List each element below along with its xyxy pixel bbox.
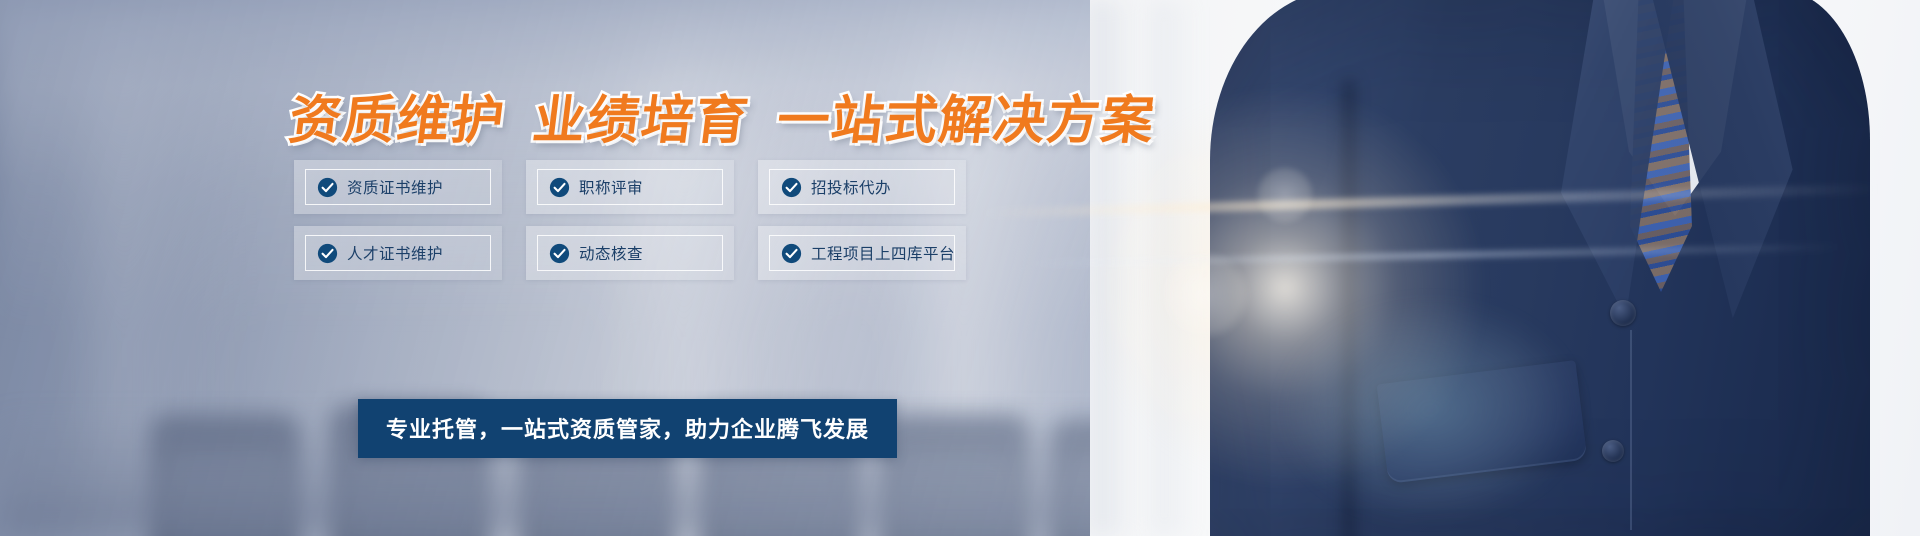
banner-content: 资质维护业绩培育一站式解决方案 资质证书维护: [0, 0, 1200, 536]
service-card-label: 人才证书维护: [347, 242, 443, 264]
headline-part-2: 业绩培育: [530, 91, 753, 151]
businessman-photo: [1090, 0, 1920, 536]
service-card-four-database-platform[interactable]: 工程项目上四库平台: [758, 226, 966, 280]
check-circle-icon: [317, 243, 338, 264]
service-card-row-2: 人才证书维护 动态核查: [294, 226, 966, 280]
headline-part-1: 资质维护: [286, 91, 509, 151]
service-card-label: 职称评审: [579, 176, 643, 198]
service-card-talent-cert[interactable]: 人才证书维护: [294, 226, 502, 280]
jacket-button-top: [1610, 300, 1636, 326]
service-card-row-1: 资质证书维护 职称评审: [294, 160, 966, 214]
service-card-title-review[interactable]: 职称评审: [526, 160, 734, 214]
hero-banner: 资质维护业绩培育一站式解决方案 资质证书维护: [0, 0, 1920, 536]
service-card-dynamic-inspection[interactable]: 动态核查: [526, 226, 734, 280]
service-card-label: 招投标代办: [811, 176, 891, 198]
service-card-bidding-agency[interactable]: 招投标代办: [758, 160, 966, 214]
page-title: 资质维护业绩培育一站式解决方案: [285, 78, 1160, 153]
service-card-grid: 资质证书维护 职称评审: [294, 160, 966, 292]
check-circle-icon: [781, 243, 802, 264]
service-card-label: 动态核查: [579, 242, 643, 264]
suit-arm-shadow: [1340, 80, 1358, 536]
check-circle-icon: [549, 177, 570, 198]
service-card-qualification-cert[interactable]: 资质证书维护: [294, 160, 502, 214]
check-circle-icon: [317, 177, 338, 198]
check-circle-icon: [781, 177, 802, 198]
service-card-label: 工程项目上四库平台: [811, 242, 955, 264]
check-circle-icon: [549, 243, 570, 264]
jacket-button-bottom: [1602, 440, 1624, 462]
headline-part-3: 一站式解决方案: [774, 91, 1159, 151]
tagline-banner: 专业托管，一站式资质管家，助力企业腾飞发展: [358, 399, 897, 458]
service-card-label: 资质证书维护: [347, 176, 443, 198]
